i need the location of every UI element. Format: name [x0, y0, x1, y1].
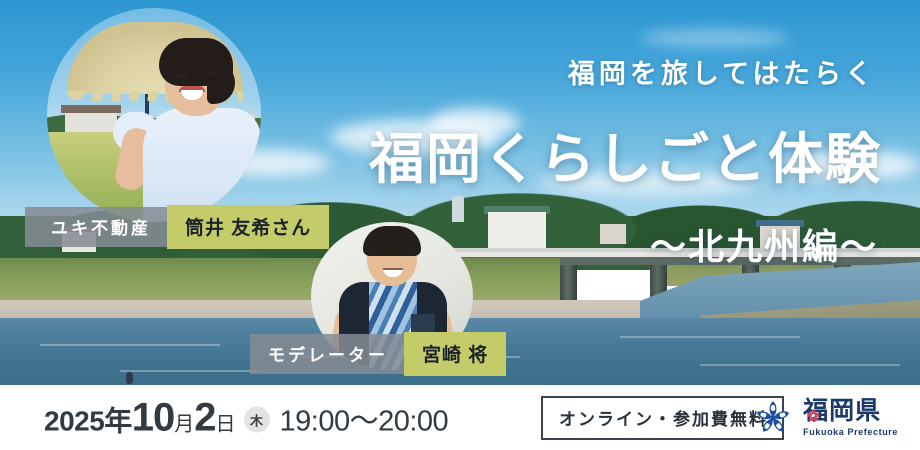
water-ripple — [40, 344, 220, 346]
date-month-unit: 月 — [174, 407, 194, 436]
water-ripple — [620, 336, 800, 338]
building — [600, 224, 626, 244]
water-ripple — [120, 370, 260, 372]
banner-headline: 福岡くらしごと体験 — [369, 114, 882, 194]
photo-hair — [363, 226, 421, 256]
photo-eye — [377, 252, 386, 255]
speaker-tag-2: モデレーター 宮崎 将 — [250, 332, 506, 376]
logo-kanji: 福岡県 — [803, 399, 898, 424]
water-tower — [452, 196, 464, 222]
water-ripple — [700, 364, 900, 366]
date-day-number: 2 — [194, 395, 215, 440]
fukuoka-flower-mark-icon — [752, 397, 794, 439]
date-year: 2025年 — [44, 399, 132, 439]
logo-wordmark: 福岡県 Fukuoka Prefecture — [803, 399, 898, 437]
event-datetime: 2025年 10 月 2 日 木 19:00〜20:00 — [44, 395, 448, 440]
plum-blossom-icon — [808, 410, 819, 421]
distant-person — [126, 372, 133, 384]
date-day-unit: 日 — [216, 407, 236, 436]
banner-tagline: 福岡を旅してはたらく — [568, 52, 876, 91]
event-time: 19:00〜20:00 — [280, 397, 449, 439]
woman-with-parasol-photo — [47, 8, 261, 222]
footer-bar: 2025年 10 月 2 日 木 19:00〜20:00 オンライン・参加費無料 — [0, 385, 920, 450]
speaker-name-label: 筒井 友希さん — [167, 205, 329, 249]
webinar-banner: 福岡を旅してはたらく 福岡くらしごと体験 〜北九州編〜 ユキ不動産 筒井 友希さ… — [0, 0, 920, 450]
speaker-name-label: 宮崎 将 — [404, 332, 506, 376]
logo-english-text: Fukuoka Prefecture — [803, 428, 898, 437]
cloud — [640, 30, 790, 46]
speaker-role-label: ユキ不動産 — [25, 207, 167, 247]
date-month-number: 10 — [132, 395, 175, 440]
banner-subline: 〜北九州編〜 — [650, 218, 878, 270]
online-free-badge: オンライン・参加費無料 — [541, 396, 784, 440]
photo-eye — [401, 252, 410, 255]
speaker-role-label: モデレーター — [250, 334, 404, 374]
fukuoka-prefecture-logo: 福岡県 Fukuoka Prefecture — [752, 397, 898, 439]
day-of-week-badge: 木 — [244, 407, 270, 433]
speaker-tag-1: ユキ不動産 筒井 友希さん — [25, 205, 329, 249]
